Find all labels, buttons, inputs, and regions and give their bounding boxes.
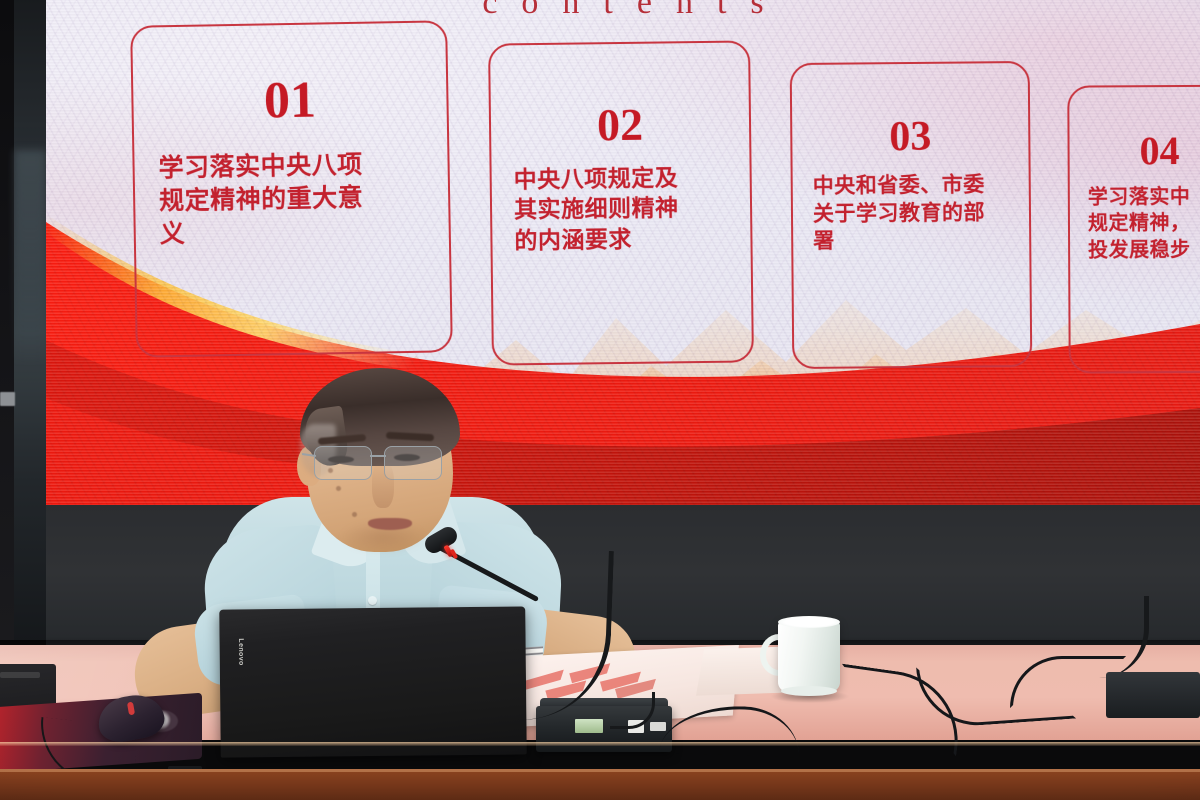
person-mouth	[368, 518, 412, 530]
content-card-01[interactable]: 01 学习落实中央八项 规定精神的重大意 义	[130, 20, 453, 357]
slide-heading: contents	[46, 0, 1200, 22]
skin-mark	[352, 512, 357, 517]
desk-edge-highlight	[0, 742, 1200, 746]
person-nose	[372, 462, 394, 508]
card-number: 03	[810, 115, 1010, 159]
mug-rim	[778, 616, 840, 628]
shirt-button	[368, 596, 377, 605]
content-card-02[interactable]: 02 中央八项规定及 其实施细则精神 的内涵要求	[488, 40, 754, 365]
door-handle	[0, 392, 15, 406]
card-number: 01	[151, 73, 429, 130]
card-number: 02	[509, 101, 732, 150]
skin-mark	[336, 486, 341, 491]
card-text: 中央八项规定及 其实施细则精神 的内涵要求	[510, 163, 733, 257]
content-card-04[interactable]: 04 学习落实中 规定精神， 投发展稳步	[1067, 84, 1200, 373]
eyeglass-bridge	[370, 455, 386, 457]
card-text: 学习落实中 规定精神， 投发展稳步	[1088, 182, 1200, 262]
card-number: 04	[1087, 130, 1200, 171]
device-label-small	[650, 722, 666, 731]
card-text: 中央和省委、市委 关于学习教育的部 署	[811, 171, 1012, 256]
card-text: 学习落实中央八项 规定精神的重大意 义	[152, 147, 431, 251]
desk-wood-edge	[0, 735, 1200, 769]
led-presentation-wall: contents 01 学习落实中央八项 规定精神的重大意 义 02 中央八项规…	[46, 0, 1200, 512]
skin-mark	[328, 468, 333, 473]
mug-base	[781, 686, 837, 696]
screenshot-root: contents 01 学习落实中央八项 规定精神的重大意 义 02 中央八项规…	[0, 0, 1200, 800]
device-label-green	[575, 719, 603, 733]
content-card-03[interactable]: 03 中央和省委、市委 关于学习教育的部 署	[790, 61, 1033, 369]
coffee-mug[interactable]	[778, 620, 840, 692]
left-glass-door	[14, 0, 46, 640]
desk-front-panel	[0, 769, 1200, 800]
eyeglass-lens-left	[314, 446, 372, 480]
lenovo-logo: Lenovo	[232, 635, 250, 669]
